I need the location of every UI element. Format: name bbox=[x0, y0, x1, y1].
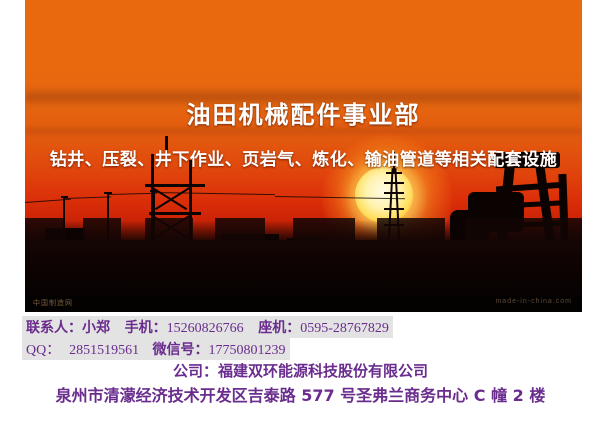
company-label: 公司： bbox=[173, 362, 218, 380]
watermark-right-text: made-in-china.com bbox=[495, 298, 572, 305]
contact-line-primary: 联系人：小郑 手机：15260826766 座机：0595-28767829 bbox=[22, 316, 393, 338]
qq-label: QQ： bbox=[26, 343, 60, 358]
contact-block: 联系人：小郑 手机：15260826766 座机：0595-28767829 Q… bbox=[0, 312, 601, 423]
company-value: 福建双环能源科技股份有限公司 bbox=[218, 362, 428, 380]
mobile-label: 手机： bbox=[125, 320, 167, 336]
wechat-label: 微信号： bbox=[153, 342, 209, 358]
address-line: 泉州市清濛经济技术开发区吉泰路 577 号圣弗兰商务中心 C 幢 2 楼 bbox=[0, 382, 601, 406]
banner-photo: 中国制造网 made-in-china.com 油田机械配件事业部 钻井、压裂、… bbox=[25, 0, 582, 312]
qq-value: 2851519561 bbox=[69, 343, 139, 358]
contact-line-secondary: QQ： 2851519561 微信号：17750801239 bbox=[22, 338, 290, 360]
watermark-strip: 中国制造网 made-in-china.com bbox=[25, 296, 582, 312]
wechat-value: 17750801239 bbox=[209, 343, 286, 358]
company-line: 公司：福建双环能源科技股份有限公司 bbox=[0, 360, 601, 381]
landline-value: 0595-28767829 bbox=[300, 321, 389, 336]
banner-headline: 油田机械配件事业部 bbox=[25, 95, 582, 130]
banner-subline: 钻井、压裂、井下作业、页岩气、炼化、输油管道等相关配套设施 bbox=[25, 145, 582, 170]
watermark-left-text: 中国制造网 bbox=[33, 298, 73, 308]
mobile-value: 15260826766 bbox=[167, 321, 244, 336]
contact-person-label: 联系人： bbox=[26, 320, 82, 336]
landline-label: 座机： bbox=[258, 320, 300, 336]
contact-person-value: 小郑 bbox=[82, 320, 110, 336]
